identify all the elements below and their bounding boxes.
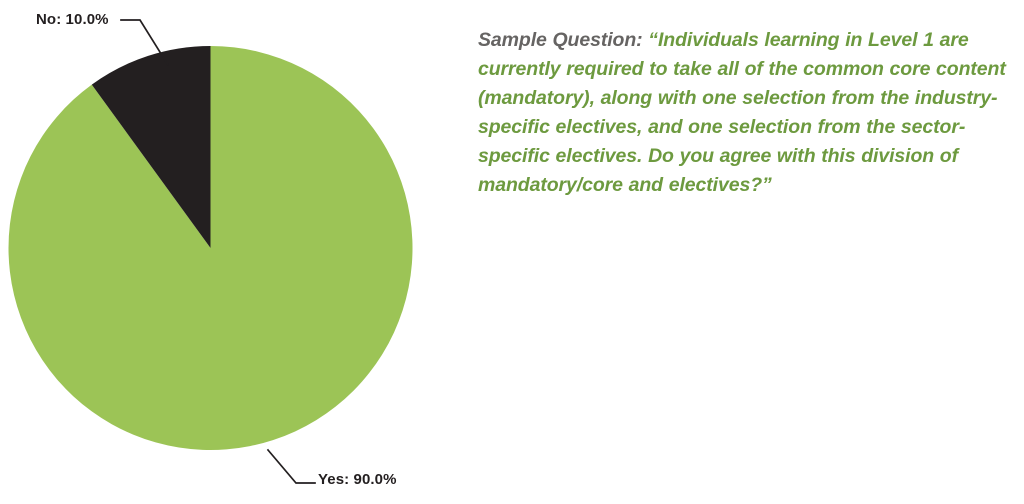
pie-chart-graphic — [0, 0, 470, 504]
pie-chart-panel: No: 10.0% Yes: 90.0% — [0, 0, 470, 504]
sample-question-text: Sample Question: “Individuals learning i… — [478, 26, 1024, 200]
pie-label-yes: Yes: 90.0% — [318, 471, 397, 488]
sample-question-prefix: Sample Question: — [478, 29, 643, 51]
pie-label-no: No: 10.0% — [36, 11, 109, 28]
pie-chart-figure: No: 10.0% Yes: 90.0% Sample Question: “I… — [0, 0, 1024, 504]
leader-line-yes — [268, 450, 315, 483]
sample-question-panel: Sample Question: “Individuals learning i… — [478, 26, 1024, 200]
pie-slice-yes[interactable] — [9, 46, 413, 450]
sample-question-body: “Individuals learning in Level 1 are cur… — [478, 29, 1006, 196]
